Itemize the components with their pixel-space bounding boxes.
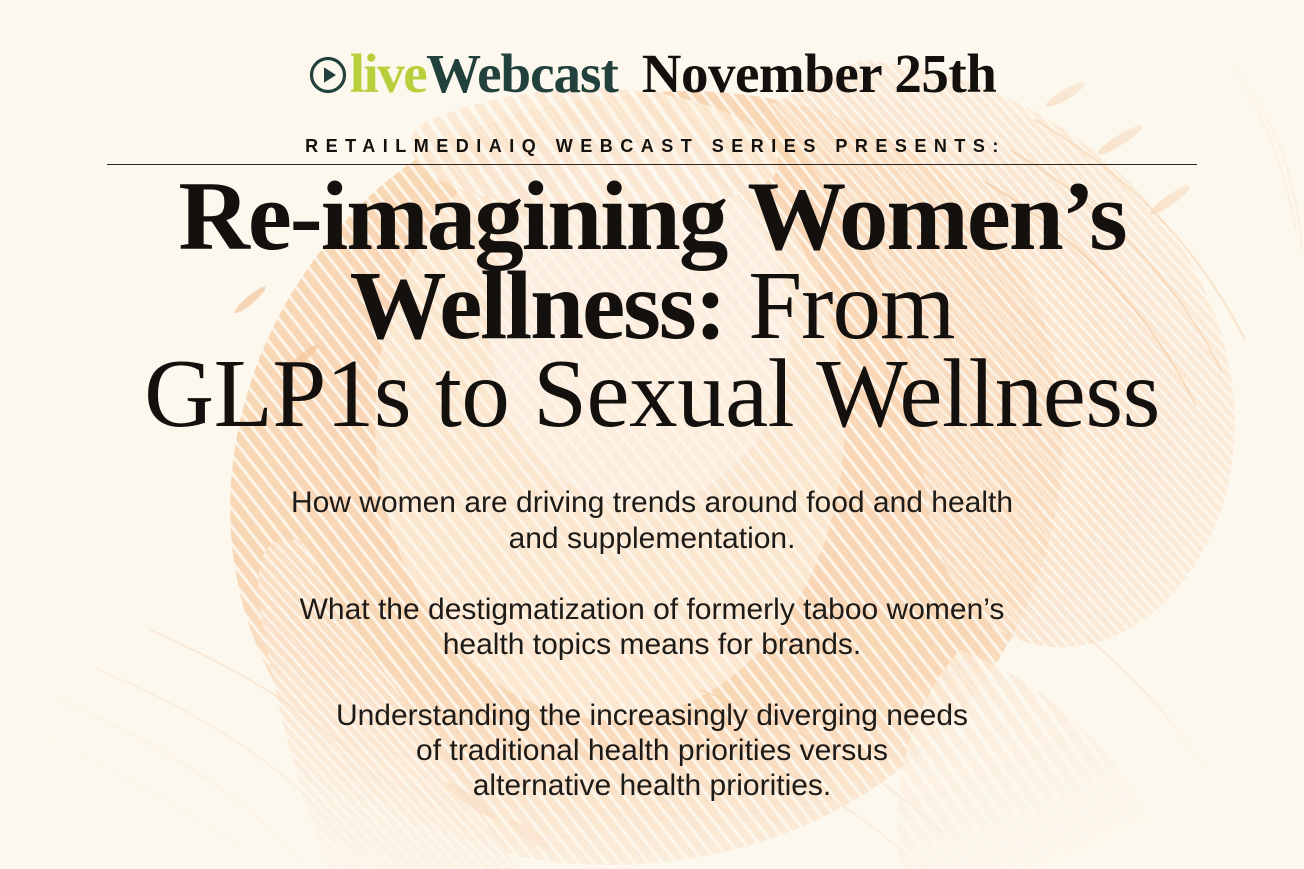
webcast-promo-poster: live Webcast November 25th RETAILMEDIAIQ…	[0, 0, 1304, 869]
bullet-1-line-2: and supplementation.	[202, 521, 1102, 556]
webcast-date: November 25th	[642, 46, 997, 101]
eyebrow-section: RETAILMEDIAIQ WEBCAST SERIES PRESENTS:	[107, 137, 1197, 165]
page-title: Re-imagining Women’s Wellness: From GLP1…	[52, 171, 1252, 439]
brand-live-text: live	[350, 46, 426, 101]
series-presents-label: RETAILMEDIAIQ WEBCAST SERIES PRESENTS:	[298, 137, 1006, 164]
masthead: live Webcast November 25th	[308, 46, 997, 101]
bullet-3-line-1: Understanding the increasingly diverging…	[202, 698, 1102, 733]
topic-list: How women are driving trends around food…	[202, 485, 1102, 803]
list-item: How women are driving trends around food…	[202, 485, 1102, 555]
list-item: Understanding the increasingly diverging…	[202, 698, 1102, 803]
bullet-1-line-1: How women are driving trends around food…	[202, 485, 1102, 520]
headline-line-2: Wellness: From	[52, 261, 1252, 351]
list-item: What the destigmatization of formerly ta…	[202, 592, 1102, 662]
bullet-2-line-2: health topics means for brands.	[202, 627, 1102, 662]
play-circle-icon	[308, 55, 348, 95]
headline-line-1: Re-imagining Women’s	[52, 171, 1252, 263]
poster-content: live Webcast November 25th RETAILMEDIAIQ…	[0, 0, 1304, 869]
brand-webcast-text: Webcast	[426, 46, 618, 101]
bullet-3-line-3: alternative health priorities.	[202, 768, 1102, 803]
bullet-2-line-1: What the destigmatization of formerly ta…	[202, 592, 1102, 627]
headline-line-3: GLP1s to Sexual Wellness	[52, 349, 1252, 439]
bullet-3-line-2: of traditional health priorities versus	[202, 733, 1102, 768]
